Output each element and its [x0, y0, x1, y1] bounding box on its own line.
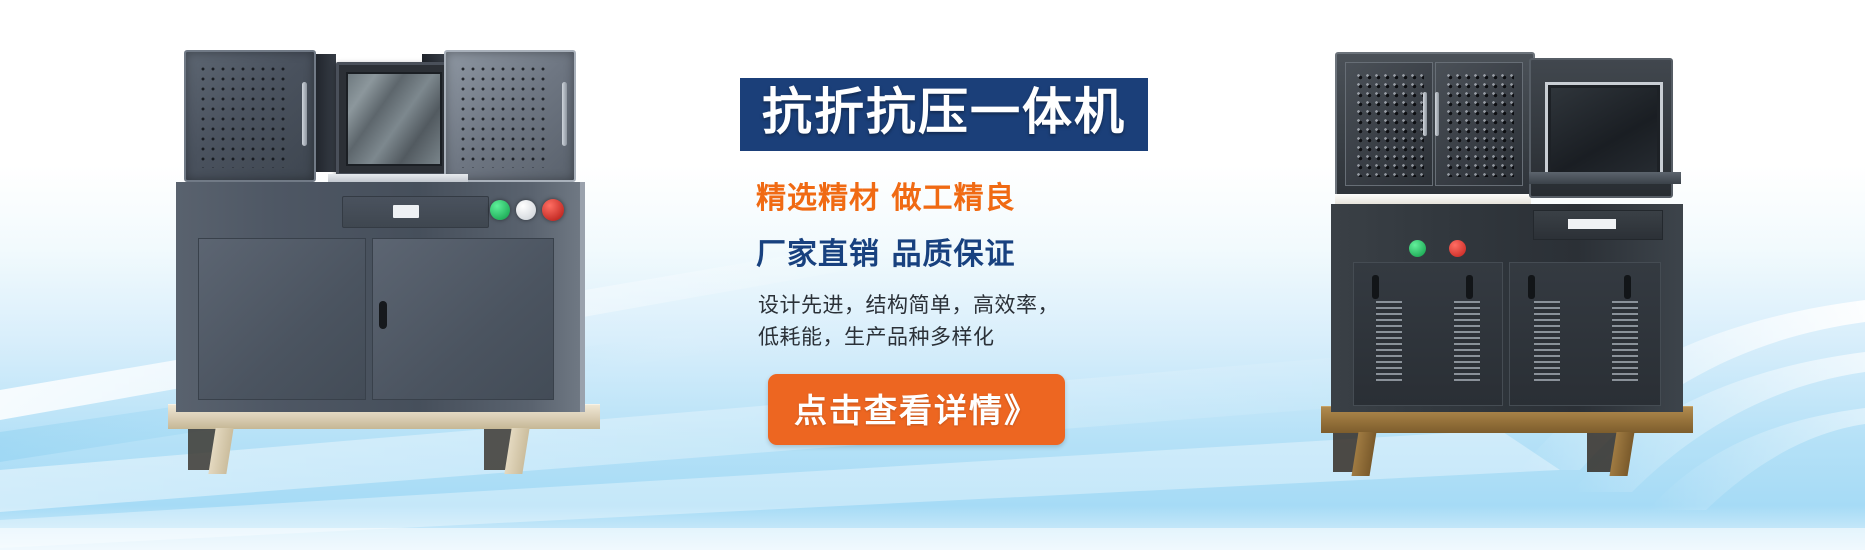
cabinet-door-left: [1353, 262, 1503, 406]
cabinet-door-right: [1509, 262, 1661, 406]
view-details-button[interactable]: 点击查看详情》: [768, 374, 1065, 445]
control-slot: [342, 196, 489, 228]
perforated-panel-left: [184, 50, 316, 182]
door-handle: [1528, 275, 1535, 299]
door-handle: [1624, 275, 1631, 299]
headline-text: 抗折抗压一体机: [762, 86, 1126, 139]
left-machine-pallet: [168, 404, 600, 484]
perforation-pattern: [1444, 71, 1514, 177]
indicator-light-group: [490, 200, 562, 222]
white-indicator-light: [516, 200, 536, 220]
headline-banner: 抗折抗压一体机: [740, 78, 1148, 151]
perforated-panel-right: [444, 50, 576, 182]
panel-handle: [302, 82, 307, 146]
perforation-pattern: [198, 64, 288, 168]
product-image-left: [168, 44, 588, 444]
door-handle: [1435, 92, 1439, 136]
right-machine-upper-cabinet: [1335, 52, 1535, 198]
cabinet-hinge: [314, 54, 336, 172]
red-indicator-light: [1449, 240, 1466, 257]
right-machine-pallet: [1321, 406, 1693, 484]
cabinet-door-right: [372, 238, 554, 400]
monitor-frame: [1545, 82, 1663, 180]
door-handle: [1466, 275, 1473, 299]
description-line-1: 设计先进，结构简单，高效率，: [758, 289, 1280, 322]
control-slot: [1533, 210, 1663, 240]
slot-label-tag: [1568, 219, 1616, 229]
monitor-housing: [336, 62, 452, 176]
door-handle: [379, 301, 387, 329]
door-handle: [1372, 275, 1379, 299]
perforation-pattern: [1354, 71, 1424, 177]
door-handle: [1423, 92, 1427, 136]
ventilation-louvers: [1454, 301, 1480, 385]
red-emergency-button: [542, 199, 564, 221]
subtitle-secondary: 厂家直销 品质保证: [756, 229, 1280, 273]
ventilation-louvers: [1534, 301, 1560, 385]
left-machine-body: [176, 182, 585, 412]
promo-banner: 抗折抗压一体机 精选精材 做工精良 厂家直销 品质保证 设计先进，结构简单，高效…: [0, 0, 1865, 550]
panel-handle: [562, 82, 567, 146]
left-machine-top-section: [168, 44, 588, 184]
ventilation-louvers: [1612, 301, 1638, 385]
machine-ledge: [1529, 172, 1681, 184]
perforation-pattern: [458, 64, 548, 168]
product-image-right: [1325, 44, 1700, 444]
monitor-screen: [1551, 88, 1657, 174]
subtitle-primary: 精选精材 做工精良: [756, 173, 1280, 217]
ventilation-louvers: [1376, 301, 1402, 385]
right-machine-body: [1331, 204, 1683, 412]
perforated-door-right: [1435, 62, 1523, 186]
cabinet-door-left: [198, 238, 366, 400]
monitor-screen: [346, 72, 442, 166]
description-line-2: 低耗能，生产品种多样化: [758, 321, 1280, 354]
description-block: 设计先进，结构简单，高效率， 低耗能，生产品种多样化: [758, 289, 1280, 354]
perforated-door-left: [1345, 62, 1433, 186]
promo-copy-block: 抗折抗压一体机 精选精材 做工精良 厂家直销 品质保证 设计先进，结构简单，高效…: [740, 78, 1280, 445]
slot-label-tag: [393, 205, 419, 218]
green-indicator-light: [1409, 240, 1426, 257]
green-indicator-light: [490, 200, 510, 220]
